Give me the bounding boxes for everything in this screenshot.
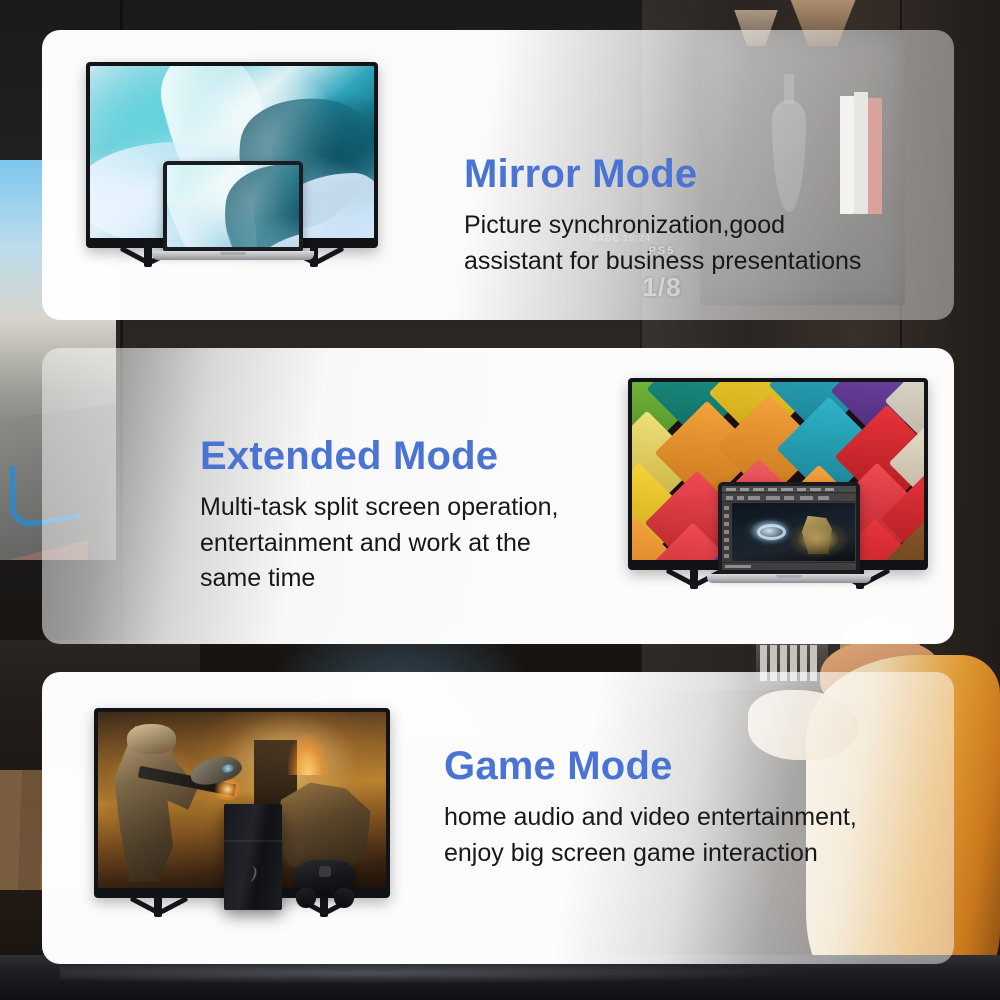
laptop-trackpad-notch: [220, 252, 246, 255]
mirror-mode-illustration: [86, 62, 378, 248]
extended-mode-description: Multi-task split screen operation, enter…: [200, 490, 558, 597]
panel-game-mode[interactable]: ) Game Mode home audio and video enterta…: [42, 672, 954, 964]
promo-page: MADE 15:24: [0, 0, 1000, 1000]
laptop-screen: [167, 165, 299, 247]
game-console: ): [224, 804, 282, 910]
editor-canvas: [732, 503, 855, 561]
laptop-base: [152, 251, 314, 260]
editor-menu-bar: [722, 486, 856, 493]
game-mode-title: Game Mode: [444, 744, 857, 788]
game-mode-illustration: ): [94, 708, 390, 898]
background-sofa-highlight: [60, 962, 820, 984]
editor-tool-palette: [722, 503, 731, 561]
ghost-text-label: PS5: [612, 245, 712, 257]
game-mode-description: home audio and video entertainment, enjo…: [444, 800, 857, 871]
console-seam: [224, 840, 282, 842]
editor-tool-bar: [722, 494, 856, 502]
panel-extended-mode[interactable]: Extended Mode Multi-task split screen op…: [42, 348, 954, 644]
tv-leg-left: [132, 896, 186, 918]
laptop-base: [707, 574, 872, 583]
game-mode-text: Game Mode home audio and video entertain…: [444, 744, 857, 871]
laptop-lid: [163, 161, 303, 251]
extended-mode-illustration: [628, 378, 928, 570]
panel-extended-mode-body: Extended Mode Multi-task split screen op…: [42, 348, 954, 644]
laptop-lid: [718, 482, 860, 574]
laptop-wallpaper-silk: [167, 165, 299, 247]
ghost-text-number: 1/8: [612, 272, 712, 303]
controller-touchpad: [319, 866, 331, 876]
laptop-trackpad-notch: [776, 575, 802, 578]
editor-status-bar: [722, 562, 856, 570]
laptop-device: [163, 161, 303, 261]
panel-mirror-mode-body: Mirror Mode Picture synchronization,good…: [42, 30, 954, 320]
photo-editor-app: [722, 486, 856, 570]
panel-game-mode-body: ) Game Mode home audio and video enterta…: [42, 672, 954, 964]
extended-mode-text: Extended Mode Multi-task split screen op…: [200, 434, 558, 597]
extended-mode-title: Extended Mode: [200, 434, 558, 478]
laptop-screen: [722, 486, 856, 570]
mirror-mode-text: Mirror Mode Picture synchronization,good…: [464, 152, 861, 279]
mirror-mode-title: Mirror Mode: [464, 152, 861, 196]
mirror-mode-description: Picture synchronization,good assistant f…: [464, 208, 861, 279]
panel-mirror-mode[interactable]: Mirror Mode Picture synchronization,good…: [42, 30, 954, 320]
game-controller: [294, 860, 356, 892]
laptop-device: [718, 482, 860, 584]
playstation-logo-icon: ): [252, 863, 258, 883]
